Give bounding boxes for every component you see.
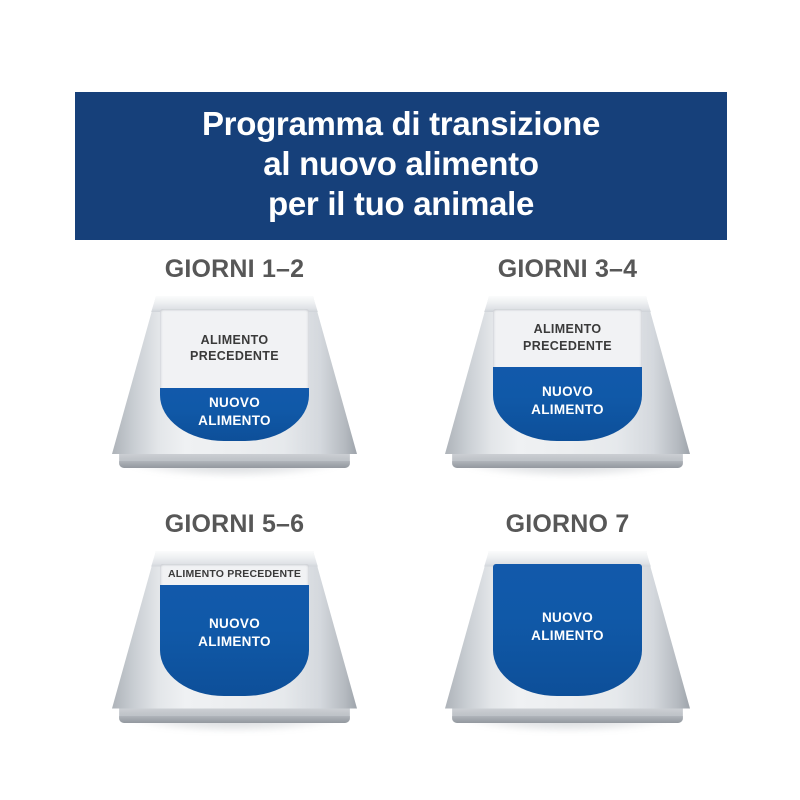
transition-stage-2: GIORNI 3–4 ALIMENTO PRECEDENTE NUOVO ALI…: [408, 255, 727, 496]
bowl-food-area: ALIMENTO PRECEDENTE NUOVO ALIMENTO: [493, 309, 642, 441]
new-food-label: NUOVO ALIMENTO: [493, 609, 642, 645]
food-bowl: ALIMENTO PRECEDENTE NUOVO ALIMENTO: [445, 296, 690, 474]
transition-stage-3: GIORNI 5–6 ALIMENTO PRECEDENTE NUOVO ALI…: [75, 510, 394, 751]
food-bowl: NUOVO ALIMENTO: [445, 551, 690, 729]
new-food-label-line-2: ALIMENTO: [198, 634, 271, 649]
previous-food-label-line-1: ALIMENTO: [201, 333, 269, 347]
new-food-label: NUOVO ALIMENTO: [160, 615, 309, 651]
previous-food-label: ALIMENTO PRECEDENTE: [160, 332, 309, 366]
new-food-label-line-2: ALIMENTO: [531, 628, 604, 643]
stage-title: GIORNI 3–4: [498, 255, 638, 284]
bowl-food-area: ALIMENTO PRECEDENTE NUOVO ALIMENTO: [160, 309, 309, 441]
previous-food-label-line-2: PRECEDENTE: [190, 349, 279, 363]
transition-stage-grid: GIORNI 1–2 ALIMENTO PRECEDENTE NUOVO ALI…: [75, 255, 727, 750]
header-banner: Programma di transizione al nuovo alimen…: [75, 92, 727, 240]
stage-title: GIORNO 7: [506, 510, 630, 539]
previous-food-label-line-1: ALIMENTO: [534, 322, 602, 336]
new-food-label: NUOVO ALIMENTO: [160, 394, 309, 430]
new-food-label-line-1: NUOVO: [209, 395, 260, 410]
new-food-label: NUOVO ALIMENTO: [493, 383, 642, 419]
banner-title-line-2: al nuovo alimento: [263, 144, 538, 184]
new-food-label-line-2: ALIMENTO: [198, 413, 271, 428]
previous-food-label-line-2: PRECEDENTE: [523, 339, 612, 353]
new-food-label-line-1: NUOVO: [542, 384, 593, 399]
stage-title: GIORNI 5–6: [165, 510, 305, 539]
stage-title: GIORNI 1–2: [165, 255, 305, 284]
new-food-label-line-1: NUOVO: [542, 610, 593, 625]
banner-title-line-1: Programma di transizione: [202, 104, 600, 144]
bowl-food-area: ALIMENTO PRECEDENTE NUOVO ALIMENTO: [160, 564, 309, 696]
new-food-label-line-1: NUOVO: [209, 616, 260, 631]
transition-stage-1: GIORNI 1–2 ALIMENTO PRECEDENTE NUOVO ALI…: [75, 255, 394, 496]
bowl-food-area: NUOVO ALIMENTO: [493, 564, 642, 696]
transition-stage-4: GIORNO 7 NUOVO ALIMENTO: [408, 510, 727, 751]
previous-food-label: ALIMENTO PRECEDENTE: [160, 567, 309, 581]
banner-title-line-3: per il tuo animale: [268, 184, 534, 224]
new-food-label-line-2: ALIMENTO: [531, 402, 604, 417]
food-bowl: ALIMENTO PRECEDENTE NUOVO ALIMENTO: [112, 296, 357, 474]
previous-food-label: ALIMENTO PRECEDENTE: [493, 321, 642, 355]
food-bowl: ALIMENTO PRECEDENTE NUOVO ALIMENTO: [112, 551, 357, 729]
